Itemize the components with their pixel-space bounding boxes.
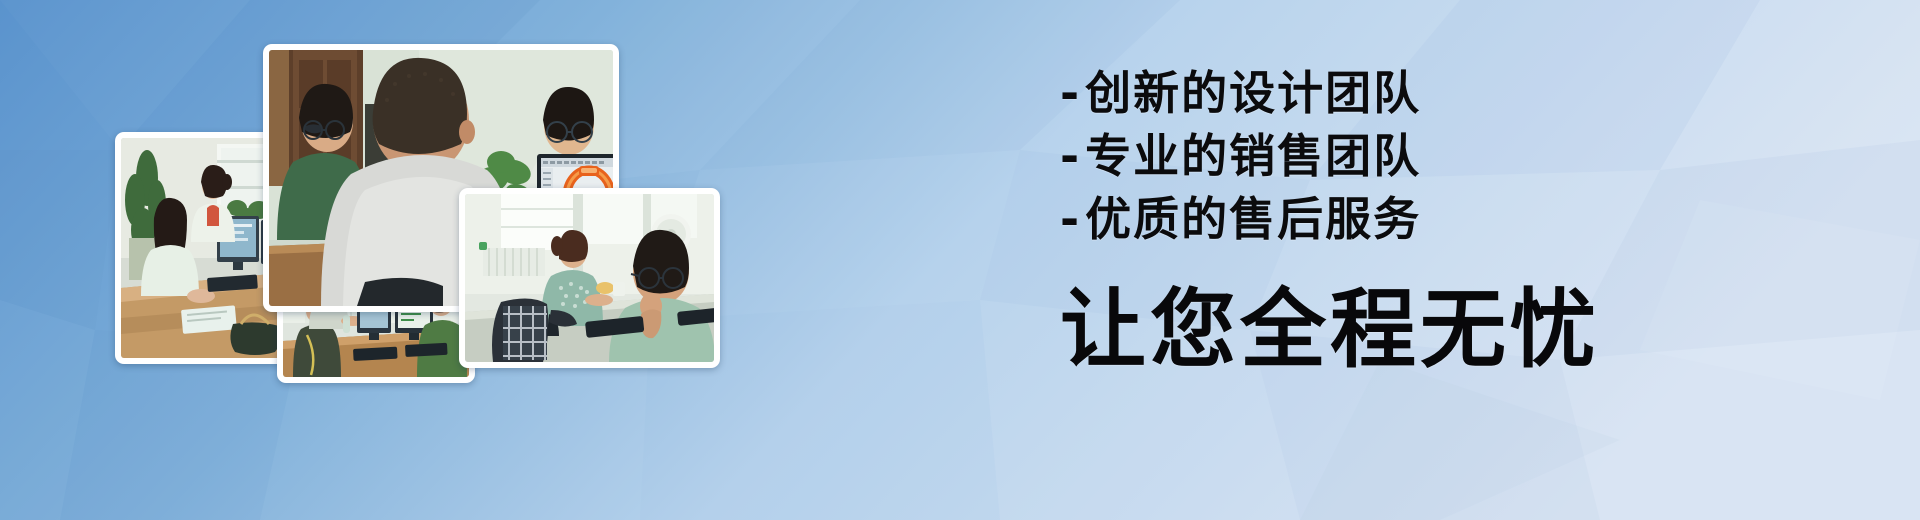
bullet-label-1: 创新的设计团队 bbox=[1085, 66, 1421, 120]
bullet-line-1: -创新的设计团队 bbox=[1060, 62, 1620, 125]
photo-sales-office-image bbox=[465, 194, 714, 362]
bullet-dash-3: - bbox=[1060, 188, 1081, 251]
bullet-line-3: -优质的售后服务 bbox=[1060, 188, 1620, 251]
photo-sales-office bbox=[459, 188, 720, 368]
bullet-line-2: -专业的销售团队 bbox=[1060, 125, 1620, 188]
bullet-label-3: 优质的售后服务 bbox=[1085, 192, 1421, 246]
headline: 让您全程无忧 bbox=[1060, 275, 1620, 385]
photo-collage bbox=[0, 0, 820, 520]
marketing-copy: -创新的设计团队 -专业的销售团队 -优质的售后服务 让您全程无忧 bbox=[1060, 62, 1620, 385]
bullet-dash-2: - bbox=[1060, 125, 1081, 188]
bullet-dash-1: - bbox=[1060, 62, 1081, 125]
promo-banner: -创新的设计团队 -专业的销售团队 -优质的售后服务 让您全程无忧 bbox=[0, 0, 1920, 520]
bullet-label-2: 专业的销售团队 bbox=[1085, 129, 1421, 183]
